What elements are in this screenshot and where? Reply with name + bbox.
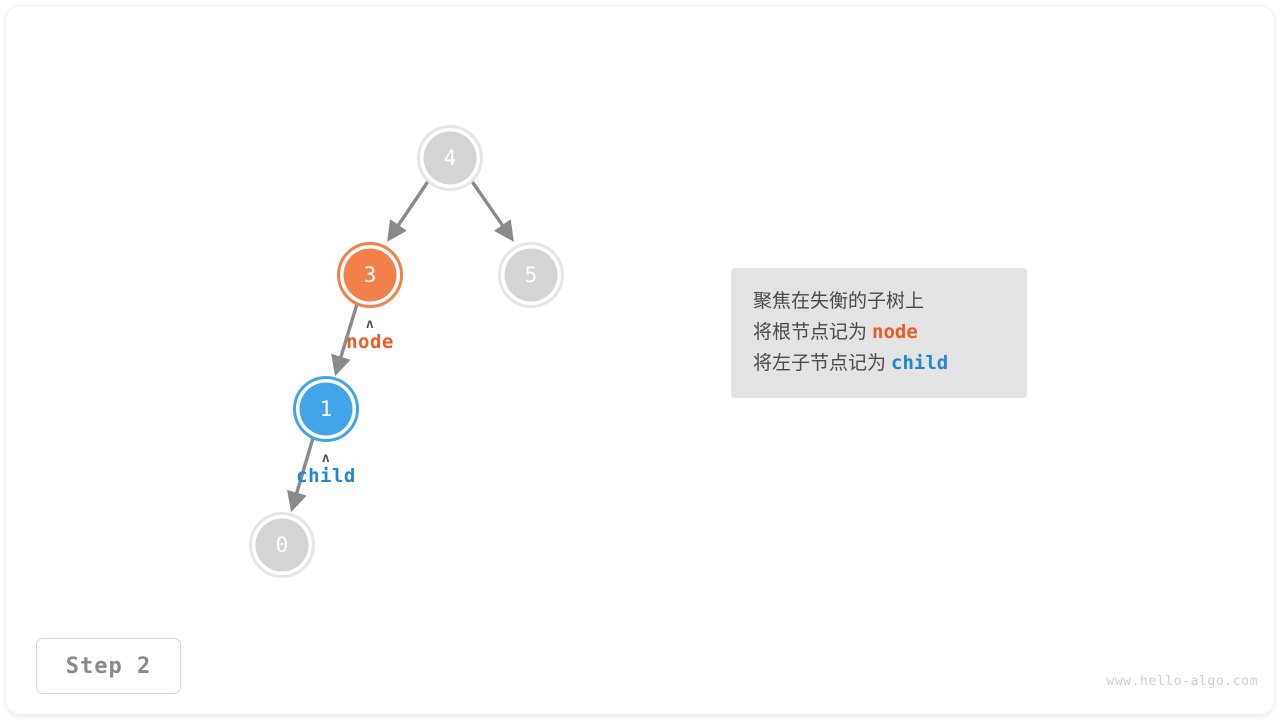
caret-up-icon: ʌ (296, 452, 356, 465)
binary-tree-graphic: 4 3 5 1 (0, 0, 1280, 720)
edge-4-3 (389, 180, 429, 239)
tree-node-1-value: 1 (320, 397, 333, 421)
tree-node-5[interactable]: 5 (500, 244, 563, 307)
tree-node-4[interactable]: 4 (419, 127, 482, 190)
annotation-line-1: 聚焦在失衡的子树上 (753, 286, 1005, 317)
tree-node-0-value: 0 (276, 533, 289, 557)
tree-node-5-value: 5 (525, 263, 538, 287)
caret-up-icon: ʌ (346, 318, 394, 331)
diagram-canvas: 4 3 5 1 (0, 0, 1280, 720)
pointer-label-child-text: child (296, 465, 356, 487)
edge-4-5 (471, 180, 512, 239)
watermark: www.hello-algo.com (1106, 674, 1258, 689)
annotation-box: 聚焦在失衡的子树上 将根节点记为node 将左子节点记为child (731, 268, 1027, 398)
step-badge: Step 2 (36, 638, 181, 694)
pointer-label-node: ʌ node (346, 318, 394, 352)
annotation-keyword-child: child (886, 352, 948, 374)
pointer-label-child: ʌ child (296, 452, 356, 486)
annotation-keyword-node: node (867, 321, 918, 343)
tree-nodes: 4 3 5 1 (251, 127, 563, 577)
annotation-line-2-prefix: 将根节点记为 (753, 321, 867, 343)
annotation-line-3-prefix: 将左子节点记为 (753, 352, 886, 374)
step-badge-label: Step 2 (66, 654, 151, 679)
tree-node-0[interactable]: 0 (251, 514, 314, 577)
tree-node-3[interactable]: 3 (339, 244, 402, 307)
annotation-line-2: 将根节点记为node (753, 317, 1005, 348)
tree-node-3-value: 3 (364, 263, 377, 287)
pointer-label-node-text: node (346, 331, 394, 353)
tree-node-4-value: 4 (444, 146, 457, 170)
tree-node-1[interactable]: 1 (295, 378, 358, 441)
annotation-line-3: 将左子节点记为child (753, 348, 1005, 379)
